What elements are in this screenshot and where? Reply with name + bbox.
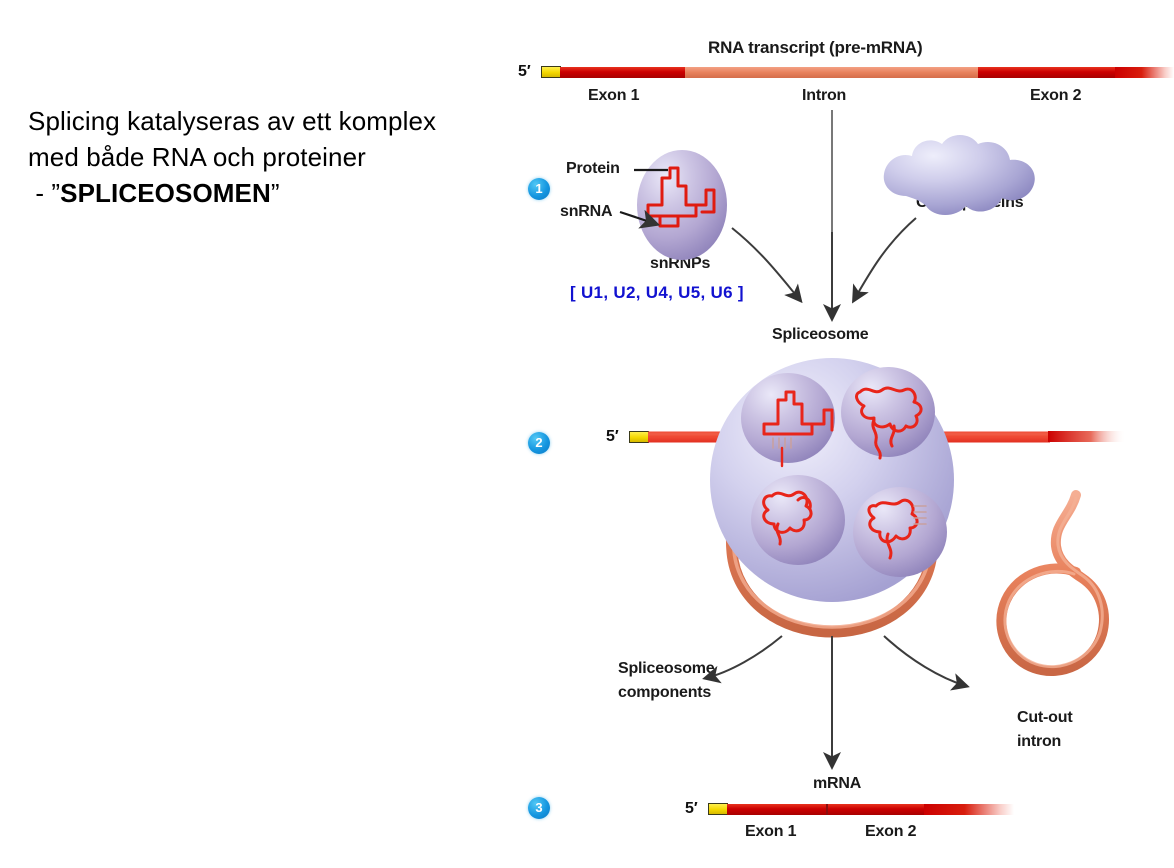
snrna-strand-step1: [648, 168, 714, 226]
exon1-label-top: Exon 1: [588, 87, 639, 105]
splicing-diagram: RNA transcript (pre-mRNA) 5′ Exon 1 Intr…: [510, 0, 1174, 868]
snrna-leader-line: [620, 212, 656, 224]
snrna-upper-left: [764, 392, 812, 434]
snrnp-list: [ U1, U2, U4, U5, U6 ]: [570, 283, 744, 303]
exon2-label-bottom: Exon 2: [865, 823, 916, 841]
snrnp-sphere-upper-left: [741, 373, 835, 463]
figure-title: RNA transcript (pre-mRNA): [708, 38, 922, 58]
transcript-fade-end-top: [1115, 67, 1174, 78]
spliceosome-label: Spliceosome: [772, 326, 869, 344]
arrow-proteins-to-spliceosome: [854, 218, 916, 300]
cutout-intron-label-line1: Cut-out: [1017, 709, 1072, 727]
cutout-intron-label-line2: intron: [1017, 733, 1061, 751]
spliceosome-components-label-line1: Spliceosome: [618, 660, 715, 678]
five-prime-label-middle: 5′: [606, 428, 619, 446]
snrna-squiggles: [764, 388, 926, 558]
snrnp-spheres-group: [741, 367, 947, 577]
spliceosome-body: [710, 358, 954, 602]
five-prime-label-top: 5′: [518, 63, 531, 81]
snrnp-sphere-upper-right: [841, 367, 935, 457]
snrnp-sphere-lower-right: [853, 487, 947, 577]
five-prime-cap-middle: [629, 431, 649, 443]
exon2-bar-top: [978, 67, 1118, 78]
caption-line-3: - ”SPLICEOSOMEN”: [28, 176, 498, 212]
cut-out-intron-lariat: [1001, 495, 1104, 671]
snrnp-particle-oval: [637, 150, 727, 260]
caption-quote-close: ”: [271, 178, 280, 208]
exon1-label-bottom: Exon 1: [745, 823, 796, 841]
step-badge-1: 1: [528, 178, 550, 200]
intron-lariat-loop: [731, 441, 932, 632]
intron-label-top: Intron: [802, 87, 846, 105]
snrnp-sphere-lower-left: [751, 475, 845, 565]
snrna-lower-left: [764, 492, 811, 532]
exon2-label-top: Exon 2: [1030, 87, 1081, 105]
caption-quote-open: - ”: [28, 178, 60, 208]
mrna-label: mRNA: [813, 775, 861, 793]
exon1-bar-top: [560, 67, 685, 78]
arrow-to-components: [706, 636, 782, 678]
spliceosome-components-label-line2: components: [618, 684, 711, 702]
snrna-label: snRNA: [560, 203, 612, 221]
step-badge-3: 3: [528, 797, 550, 819]
caption-line-2: med både RNA och proteiner: [28, 140, 498, 176]
step-badge-2: 2: [528, 432, 550, 454]
intron-bar-top: [685, 67, 978, 78]
exon2-strand-fade: [1048, 431, 1126, 442]
snrnps-label: snRNPs: [650, 255, 710, 273]
exon2-strand-step2: [918, 434, 1050, 470]
snrna-upper-right: [857, 388, 922, 431]
exon-junction-tick: [826, 804, 828, 815]
five-prime-label-bottom: 5′: [685, 800, 698, 818]
mrna-fade-end: [924, 804, 1014, 815]
exon1-strand-step2: [648, 434, 746, 470]
slide-caption: Splicing katalyseras av ett komplex med …: [28, 104, 498, 212]
caption-term-spliceosomen: SPLICEOSOMEN: [60, 178, 271, 208]
five-prime-cap-bottom: [708, 803, 728, 815]
caption-line-1: Splicing katalyseras av ett komplex: [28, 104, 498, 140]
protein-label: Protein: [566, 160, 620, 178]
five-prime-cap-top: [541, 66, 561, 78]
other-proteins-label: Other proteins: [916, 194, 1023, 212]
arrow-to-cutout-intron: [884, 636, 966, 686]
snrna-lower-right: [869, 500, 917, 542]
